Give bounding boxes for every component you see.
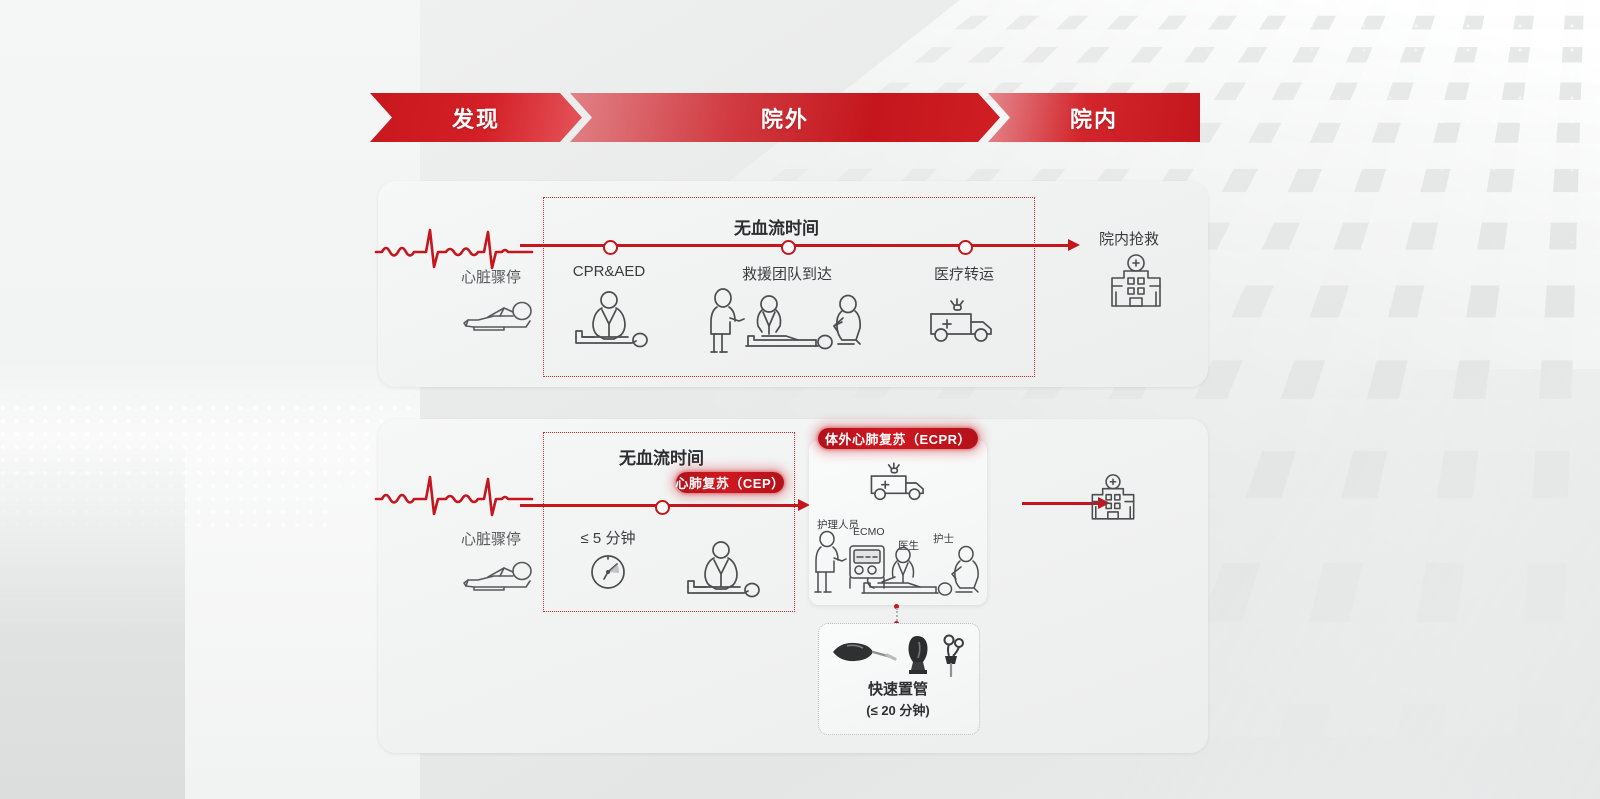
rapid-cannulation-title: 快速置管 bbox=[818, 678, 978, 699]
top-node-label-cpr-aed: CPR&AED bbox=[538, 263, 680, 280]
top-node-marker-cpr-aed[interactable] bbox=[603, 240, 618, 255]
top-arrest-label: 心脏骤停 bbox=[461, 266, 521, 287]
ecpr-team-scene-icon bbox=[812, 530, 984, 600]
clock-icon bbox=[586, 549, 630, 593]
bottom-noflow-title: 无血流时间 bbox=[619, 444, 704, 469]
cpr-compression-icon bbox=[566, 291, 652, 353]
phase-banner: 发现 院外 院内 bbox=[370, 93, 1200, 142]
banner-segment-label: 发现 bbox=[452, 102, 500, 134]
rapid-cannulation-subtitle: (≤ 20 分钟) bbox=[818, 700, 978, 719]
top-endpoint-label: 院内抢救 bbox=[1099, 228, 1159, 249]
rescue-team-icon bbox=[706, 288, 868, 356]
banner-segment-discover[interactable]: 发现 bbox=[370, 93, 582, 142]
rapid-device-icons bbox=[829, 632, 969, 680]
banner-segment-prehospital[interactable]: 院外 bbox=[570, 93, 1000, 142]
ambulance-icon bbox=[868, 460, 930, 506]
ambulance-icon bbox=[927, 296, 999, 348]
bottom-node-marker-cpr[interactable] bbox=[655, 500, 670, 515]
background-bottom-left-block bbox=[0, 439, 185, 799]
top-node-marker-medical-transport[interactable] bbox=[958, 240, 973, 255]
top-node-label-rescue-team: 救援团队到达 bbox=[716, 263, 858, 284]
ecpr-badge: 体外心肺复苏（ECPR） bbox=[818, 428, 978, 449]
hospital-icon bbox=[1082, 474, 1144, 524]
top-node-marker-rescue-team[interactable] bbox=[781, 240, 796, 255]
patient-lying-icon bbox=[460, 556, 536, 594]
banner-segment-label: 院内 bbox=[1070, 102, 1118, 134]
top-noflow-title: 无血流时间 bbox=[734, 214, 819, 239]
top-node-label-medical-transport: 医疗转运 bbox=[893, 263, 1035, 284]
background-perspective-dots bbox=[1180, 0, 1600, 250]
hospital-icon bbox=[1100, 254, 1172, 312]
ecg-waveform-bottom bbox=[374, 469, 534, 521]
patient-lying-icon bbox=[460, 296, 536, 334]
bottom-time-label: ≤ 5 分钟 bbox=[558, 527, 658, 548]
top-timeline-arrowhead bbox=[1068, 239, 1080, 251]
cpr-compression-icon bbox=[678, 541, 764, 603]
cpr-badge: 心肺复苏（CEP） bbox=[676, 472, 784, 493]
banner-segment-label: 院外 bbox=[761, 102, 809, 134]
banner-segment-inhospital[interactable]: 院内 bbox=[988, 93, 1200, 142]
bottom-arrest-label: 心脏骤停 bbox=[461, 528, 521, 549]
